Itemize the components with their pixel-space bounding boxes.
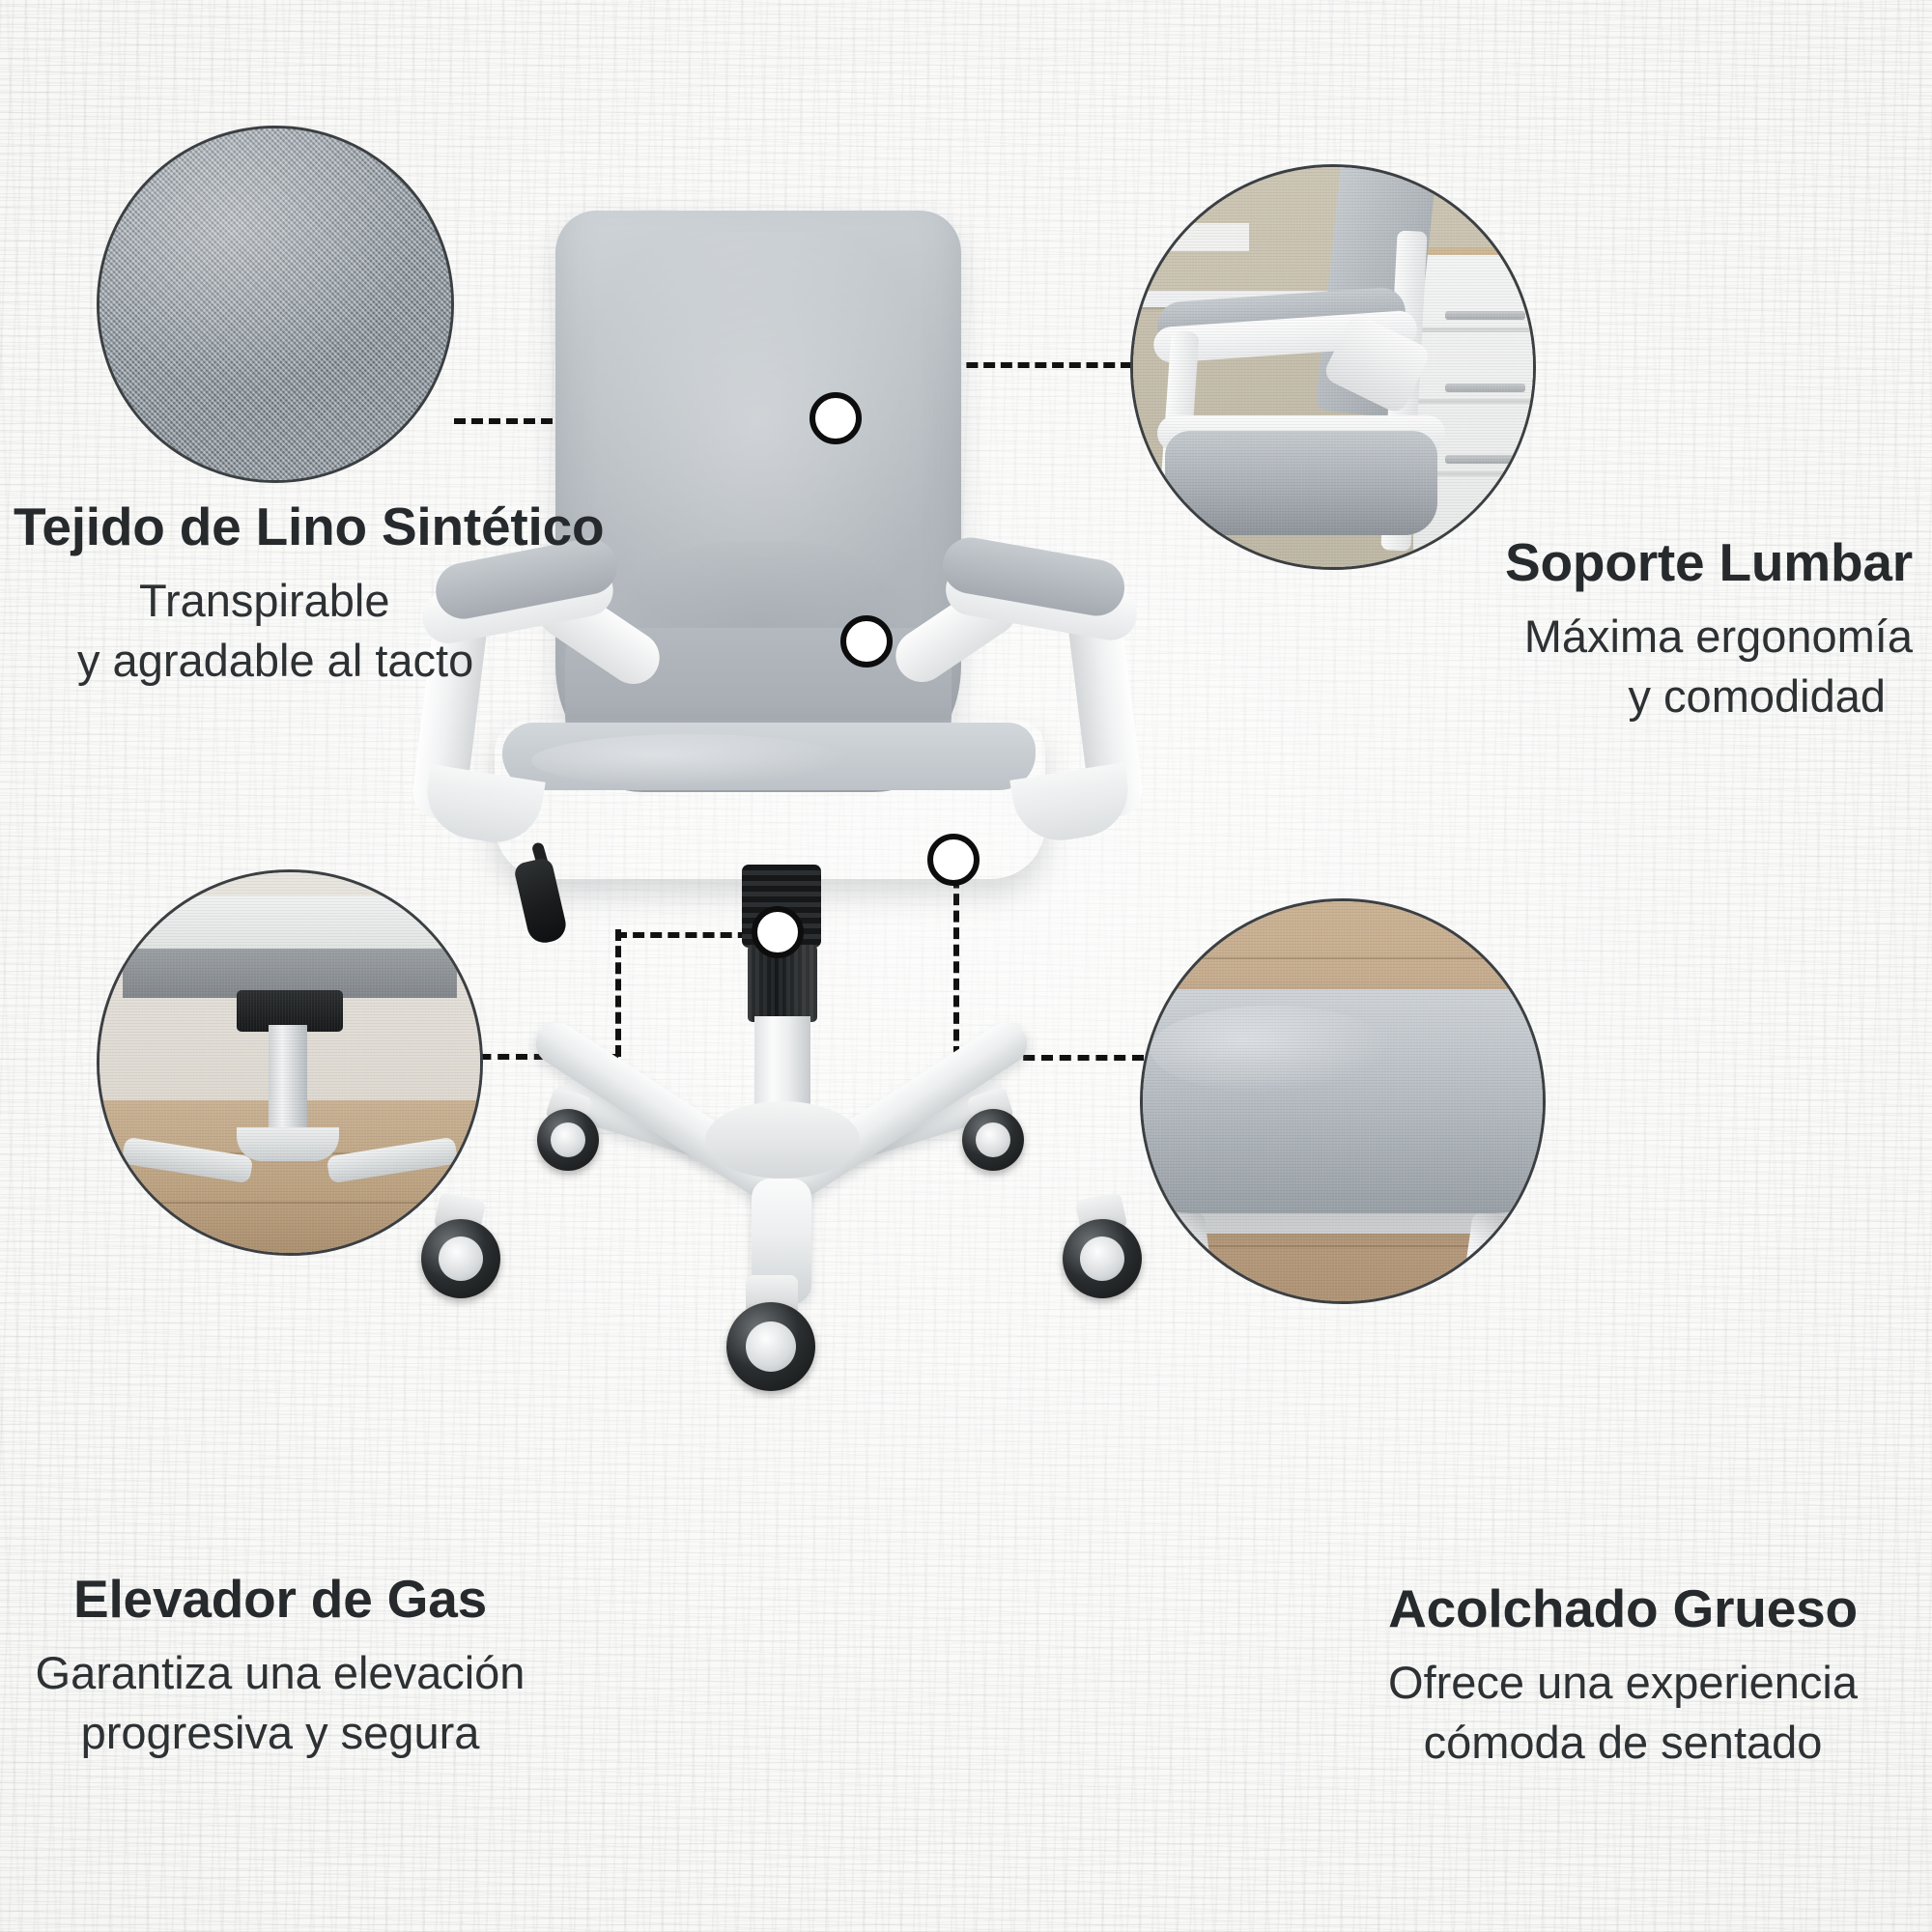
chair-seat-sheen (531, 734, 850, 787)
chair-caster-hub (439, 1236, 483, 1281)
feature-title-lumbar: Soporte Lumbar (1236, 533, 1913, 593)
feature-desc-elevador-line1: Garantiza una elevación (10, 1643, 551, 1703)
office-chair-illustration (386, 193, 1546, 1352)
chair-caster-hub (1080, 1236, 1124, 1281)
feature-desc-elevador-line2: progresiva y segura (10, 1703, 551, 1763)
feature-desc-acolchado-line1: Ofrece una experiencia (1323, 1653, 1922, 1713)
chair-caster (1063, 1219, 1142, 1298)
feature-desc-lumbar-line1: Máxima ergonomía (1236, 607, 1913, 667)
callout-marker-lumbar[interactable] (840, 615, 893, 668)
feature-desc-tejido-line2: y agradable al tacto (14, 631, 632, 691)
chair-base-hub (705, 1101, 860, 1179)
chair-caster (537, 1109, 599, 1171)
feature-title-tejido: Tejido de Lino Sintético (14, 497, 632, 557)
feature-title-elevador: Elevador de Gas (10, 1570, 551, 1630)
chair-caster-hub (746, 1321, 796, 1372)
chair-caster (421, 1219, 500, 1298)
chair-caster (962, 1109, 1024, 1171)
chair-caster-hub (976, 1122, 1010, 1157)
infographic-canvas: Tejido de Lino Sintético Transpirable y … (0, 0, 1932, 1932)
feature-desc-tejido-line1: Transpirable (14, 571, 632, 631)
feature-text-elevador: Elevador de Gas Garantiza una elevación … (10, 1570, 551, 1763)
feature-text-acolchado: Acolchado Grueso Ofrece una experiencia … (1323, 1579, 1922, 1773)
callout-marker-backrest[interactable] (810, 392, 862, 444)
feature-text-tejido: Tejido de Lino Sintético Transpirable y … (14, 497, 632, 691)
chair-caster-hub (551, 1122, 585, 1157)
feature-text-lumbar: Soporte Lumbar Máxima ergonomía y comodi… (1236, 533, 1913, 726)
callout-marker-gaslift[interactable] (752, 906, 804, 958)
callout-marker-seat[interactable] (927, 834, 980, 886)
feature-title-acolchado: Acolchado Grueso (1323, 1579, 1922, 1639)
feature-desc-acolchado-line2: cómoda de sentado (1323, 1713, 1922, 1773)
feature-desc-lumbar-line2: y comodidad (1236, 667, 1913, 726)
chair-caster (726, 1302, 815, 1391)
